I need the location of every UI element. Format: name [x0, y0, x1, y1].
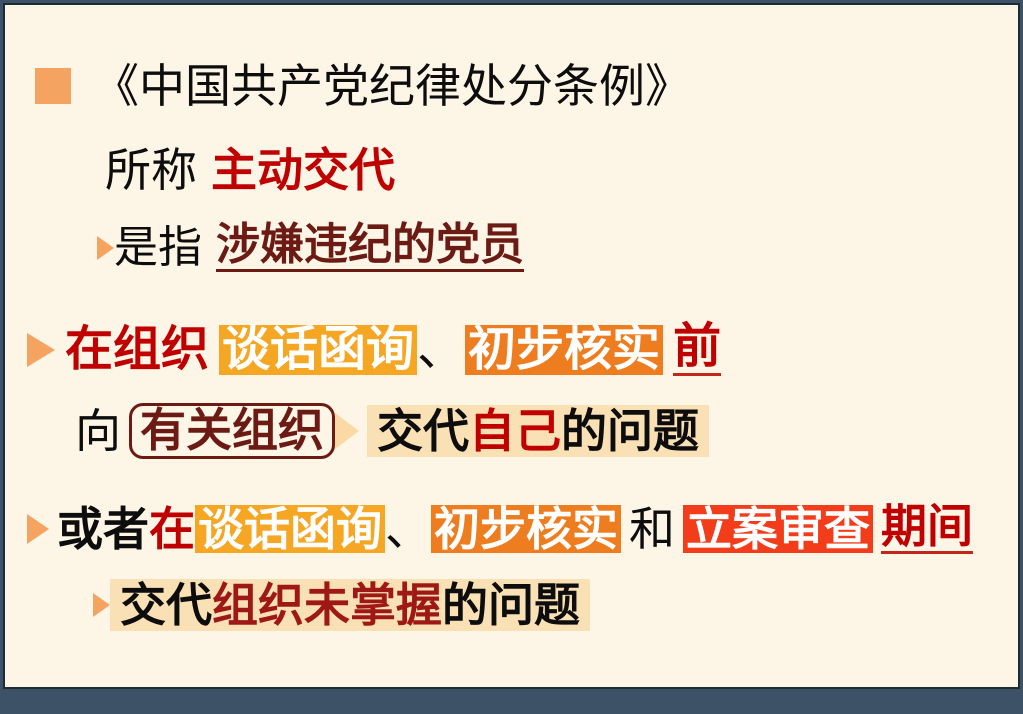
boxed-relevant-organization: 有关组织 [129, 403, 335, 459]
tag-preliminary-verification: 初步核实 [431, 505, 621, 553]
line-during-stage: 或者 在 谈话函询 、 初步核实 和 立案审查 期间 [27, 503, 973, 554]
slide-bottom-bar [0, 692, 1023, 714]
confess-highlight-box: 交代 自己 的问题 [367, 405, 709, 457]
line-title: 《中国共产党纪律处分条例》 [35, 63, 691, 109]
definition-subject: 涉嫌违纪的党员 [216, 223, 524, 272]
line-before-stage: 在组织 谈话函询 、 初步核实 前 [27, 323, 721, 376]
triangle-bullet-icon [27, 514, 49, 544]
triangle-inline-icon [335, 413, 359, 449]
line-definition: 是指 涉嫌违纪的党员 [97, 223, 524, 272]
unknown-tail: 的问题 [442, 582, 580, 628]
unknown-verb: 交代 [120, 582, 212, 628]
tag-case-investigation: 立案审查 [683, 505, 873, 553]
stage-suffix: 前 [673, 323, 721, 376]
term-lead-text: 所称 [105, 147, 197, 193]
slide-canvas: 《中国共产党纪律处分条例》 所称 主动交代 是指 涉嫌违纪的党员 在组织 谈话函… [3, 3, 1020, 689]
triangle-bullet-icon [97, 236, 114, 260]
unknown-emphasis: 组织未掌握 [212, 582, 442, 628]
unknown-highlight-box: 交代 组织未掌握 的问题 [110, 579, 590, 631]
triangle-bullet-icon [93, 593, 110, 617]
line-confess-to-org: 向 有关组织 交代 自己 的问题 [75, 403, 709, 459]
square-bullet-icon [35, 68, 71, 104]
triangle-bullet-icon [27, 333, 55, 367]
term-keyword: 主动交代 [211, 147, 395, 193]
during-prefix: 或者 [57, 506, 149, 552]
tag-talk-inquiry: 谈话函询 [219, 325, 417, 375]
tag-talk-inquiry: 谈话函询 [195, 505, 385, 553]
stage-separator: 、 [417, 326, 465, 374]
confess-object-tail: 的问题 [561, 408, 699, 454]
during-conjunction: 和 [629, 506, 675, 552]
tag-preliminary-verification: 初步核实 [465, 325, 663, 375]
during-suffix: 期间 [881, 503, 973, 554]
slide-frame: 《中国共产党纪律处分条例》 所称 主动交代 是指 涉嫌违纪的党员 在组织 谈话函… [0, 0, 1023, 714]
during-prefix-red: 在 [149, 506, 195, 552]
line-unknown-issues: 交代 组织未掌握 的问题 [93, 579, 590, 631]
confess-object-self: 自己 [469, 408, 561, 454]
confess-prefix: 向 [75, 408, 121, 454]
regulation-title: 《中国共产党纪律处分条例》 [93, 63, 691, 109]
line-term: 所称 主动交代 [105, 147, 395, 193]
definition-lead-text: 是指 [114, 226, 202, 270]
confess-verb: 交代 [377, 408, 469, 454]
during-separator: 、 [385, 506, 431, 552]
stage-prefix: 在组织 [65, 326, 209, 374]
